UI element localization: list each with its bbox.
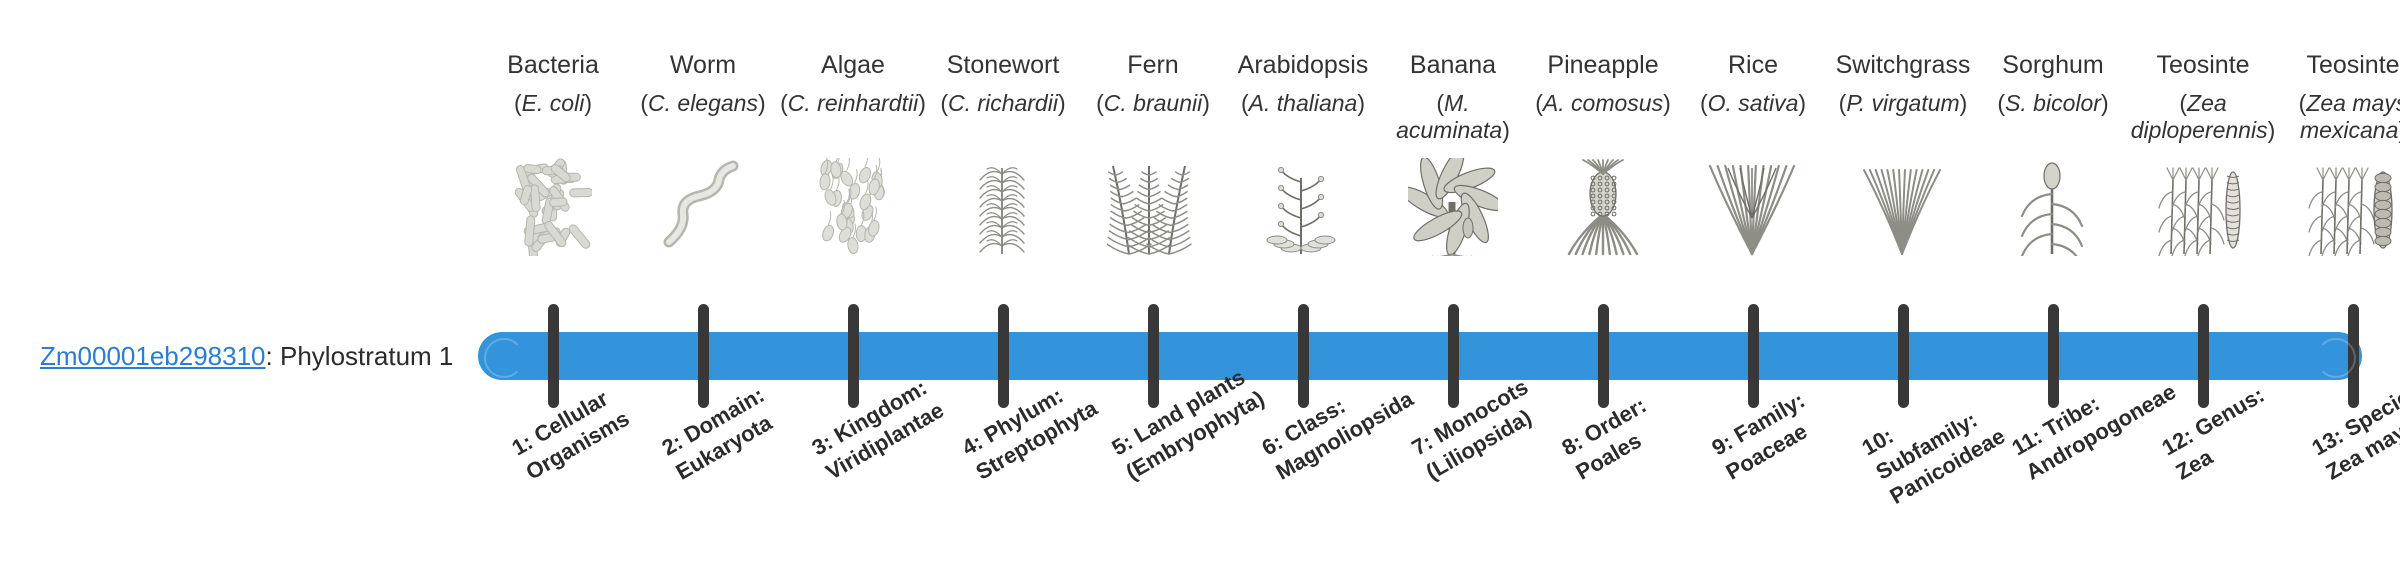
species-scientific-value: Zea diploperennis xyxy=(2131,90,2268,143)
pineapple-icon xyxy=(1528,158,1678,256)
species-common-name: Arabidopsis xyxy=(1228,50,1378,80)
phylostratum-tick[interactable] xyxy=(548,304,559,408)
gene-label-separator: : xyxy=(266,341,280,371)
phylostratum-tick[interactable] xyxy=(2048,304,2059,408)
gene-phylostratum-value: Phylostratum 1 xyxy=(280,341,453,371)
species-scientific-value: Zea mays mexicana xyxy=(2300,90,2400,143)
phylostratum-name: Order: Poales xyxy=(1572,392,1651,484)
species-common-name: Teosinte xyxy=(2128,50,2278,80)
species-common-name: Sorghum xyxy=(1978,50,2128,80)
species-scientific-value: A. comosus xyxy=(1543,90,1663,116)
species-column: Stonewort(C. richardii) xyxy=(928,50,1078,117)
species-scientific-name: (P. virgatum) xyxy=(1828,90,1978,117)
switchgrass-icon xyxy=(1828,158,1978,256)
species-common-name: Fern xyxy=(1078,50,1228,80)
species-scientific-value: C. reinhardtii xyxy=(788,90,918,116)
phylostratum-name: Monocots (Liliopsida) xyxy=(1422,374,1536,485)
fern-icon xyxy=(1078,158,1228,256)
phylostratum-tick[interactable] xyxy=(1898,304,1909,408)
phylostratum-name: Subfamily: Panicoideae xyxy=(1872,407,2010,509)
species-scientific-value: S. bicolor xyxy=(2005,90,2101,116)
phylostratum-name: Land plants (Embryophyta) xyxy=(1122,364,1269,484)
phylostratum-label[interactable]: 9: Family: Poaceae xyxy=(1707,363,1865,486)
species-scientific-value: P. virgatum xyxy=(1846,90,1959,116)
species-column: Teosinte(Zea mays mexicana) xyxy=(2278,50,2400,144)
species-scientific-name: (C. braunii) xyxy=(1078,90,1228,117)
species-scientific-value: C. elegans xyxy=(648,90,758,116)
rice-icon xyxy=(1678,158,1828,256)
species-column: Switchgrass(P. virgatum) xyxy=(1828,50,1978,117)
species-scientific-value: C. richardii xyxy=(948,90,1058,116)
phylostratum-name: Cellular Organisms xyxy=(522,386,634,485)
species-common-name: Stonewort xyxy=(928,50,1078,80)
phylostratum-tick[interactable] xyxy=(998,304,1009,408)
gene-id-link[interactable]: Zm00001eb298310 xyxy=(40,341,266,371)
phylostratum-label[interactable]: 3: Kingdom: Viridiplantae xyxy=(807,363,965,486)
species-scientific-name: (M. acuminata) xyxy=(1378,90,1528,144)
species-scientific-value: M. acuminata xyxy=(1396,90,1502,143)
species-scientific-name: (Zea diploperennis) xyxy=(2128,90,2278,144)
phylostratum-tick[interactable] xyxy=(2198,304,2209,408)
species-column: Pineapple(A. comosus) xyxy=(1528,50,1678,117)
phylostratum-label[interactable]: 8: Order: Poales xyxy=(1557,363,1715,486)
phylostratum-label[interactable]: 6: Class: Magnoliopsida xyxy=(1257,363,1415,486)
species-scientific-name: (C. richardii) xyxy=(928,90,1078,117)
phylostratum-name: Class: Magnoliopsida xyxy=(1272,386,1418,485)
species-column: Algae(C. reinhardtii) xyxy=(778,50,928,117)
phylostratum-label[interactable]: 10: Subfamily: Panicoideae xyxy=(1857,363,2029,511)
species-column: Fern(C. braunii) xyxy=(1078,50,1228,117)
phylostratum-name: Tribe: Andropogoneae xyxy=(2022,379,2181,485)
species-scientific-name: (O. sativa) xyxy=(1678,90,1828,117)
phylostratum-tick[interactable] xyxy=(1448,304,1459,408)
gene-phylostratum-label: Zm00001eb298310: Phylostratum 1 xyxy=(40,341,453,371)
species-column: Worm(C. elegans) xyxy=(628,50,778,117)
teosinte-mexicana-icon xyxy=(2278,158,2400,256)
species-common-name: Pineapple xyxy=(1528,50,1678,80)
species-scientific-name: (Zea mays mexicana) xyxy=(2278,90,2400,144)
phylostratum-label[interactable]: 1: Cellular Organisms xyxy=(507,363,665,486)
species-scientific-value: E. coli xyxy=(522,90,585,116)
species-scientific-value: C. braunii xyxy=(1104,90,1202,116)
sorghum-icon xyxy=(1978,158,2128,256)
species-common-name: Algae xyxy=(778,50,928,80)
species-common-name: Bacteria xyxy=(478,50,628,80)
stonewort-icon xyxy=(928,158,1078,256)
species-scientific-name: (E. coli) xyxy=(478,90,628,117)
arabidopsis-icon xyxy=(1228,158,1378,256)
phylostratum-bar[interactable] xyxy=(478,332,2362,380)
phylostratum-tick[interactable] xyxy=(1598,304,1609,408)
species-common-name: Worm xyxy=(628,50,778,80)
species-scientific-name: (S. bicolor) xyxy=(1978,90,2128,117)
species-common-name: Banana xyxy=(1378,50,1528,80)
phylostratum-tick[interactable] xyxy=(698,304,709,408)
species-header-row: Bacteria(E. coli)Worm(C. elegans)Algae(C… xyxy=(478,50,2362,310)
species-column: Arabidopsis(A. thaliana) xyxy=(1228,50,1378,117)
species-scientific-name: (C. elegans) xyxy=(628,90,778,117)
species-column: Banana(M. acuminata) xyxy=(1378,50,1528,144)
phylostratum-name: Domain: Eukaryota xyxy=(672,382,777,485)
teosinte-diplo-icon xyxy=(2128,158,2278,256)
phylostratum-timeline xyxy=(478,332,2362,380)
phylostratum-tick[interactable] xyxy=(1148,304,1159,408)
phylostratum-label[interactable]: 4: Phylum: Streptophyta xyxy=(957,363,1115,486)
phylostratum-figure: Bacteria(E. coli)Worm(C. elegans)Algae(C… xyxy=(0,0,2400,580)
species-common-name: Teosinte xyxy=(2278,50,2400,80)
species-scientific-name: (A. thaliana) xyxy=(1228,90,1378,117)
phylostratum-label[interactable]: 12: Genus: Zea xyxy=(2157,363,2315,486)
species-common-name: Rice xyxy=(1678,50,1828,80)
species-column: Bacteria(E. coli) xyxy=(478,50,628,117)
phylostratum-name: Kingdom: Viridiplantae xyxy=(822,375,949,485)
phylostratum-label[interactable]: 5: Land plants (Embryophyta) xyxy=(1107,363,1265,486)
phylostratum-label-row: 1: Cellular Organisms2: Domain: Eukaryot… xyxy=(478,438,2362,580)
worm-icon xyxy=(628,158,778,256)
phylostratum-label[interactable]: 2: Domain: Eukaryota xyxy=(657,363,815,486)
species-scientific-name: (A. comosus) xyxy=(1528,90,1678,117)
species-common-name: Switchgrass xyxy=(1828,50,1978,80)
phylostratum-tick[interactable] xyxy=(848,304,859,408)
species-scientific-name: (C. reinhardtii) xyxy=(778,90,928,117)
phylostratum-tick[interactable] xyxy=(1748,304,1759,408)
bacteria-icon xyxy=(478,158,628,256)
phylostratum-tick[interactable] xyxy=(2348,304,2359,408)
phylostratum-name: Family: Poaceae xyxy=(1722,388,1812,485)
phylostratum-label[interactable]: 11: Tribe: Andropogoneae xyxy=(2007,363,2165,486)
phylostratum-name: Phylum: Streptophyta xyxy=(972,383,1102,485)
species-scientific-value: A. thaliana xyxy=(1249,90,1358,116)
banana-icon xyxy=(1378,158,1528,256)
algae-icon xyxy=(778,158,928,256)
species-column: Rice(O. sativa) xyxy=(1678,50,1828,117)
species-column: Teosinte(Zea diploperennis) xyxy=(2128,50,2278,144)
phylostratum-tick[interactable] xyxy=(1298,304,1309,408)
phylostratum-label[interactable]: 7: Monocots (Liliopsida) xyxy=(1407,363,1565,486)
species-scientific-value: O. sativa xyxy=(1708,90,1799,116)
species-column: Sorghum(S. bicolor) xyxy=(1978,50,2128,117)
